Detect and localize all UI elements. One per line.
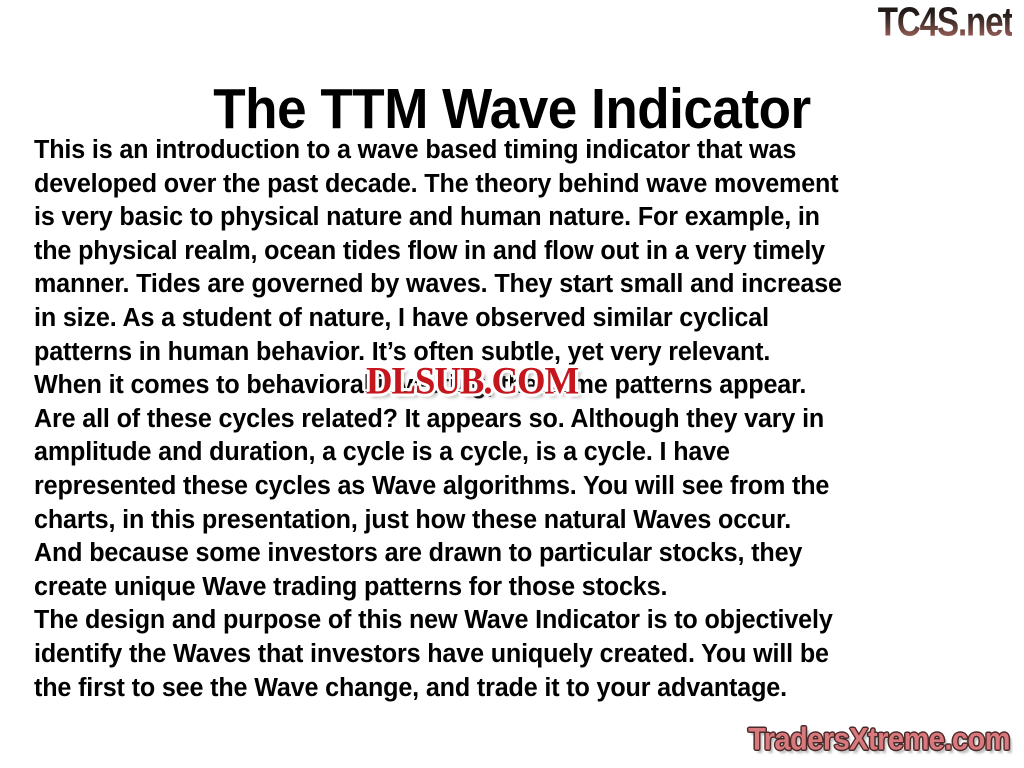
body-line: manner. Tides are governed by waves. The… (34, 268, 982, 302)
body-line: is very basic to physical nature and hum… (34, 201, 982, 235)
body-line: The design and purpose of this new Wave … (34, 604, 982, 638)
body-line: in size. As a student of nature, I have … (34, 302, 982, 336)
body-line: This is an introduction to a wave based … (34, 134, 982, 168)
body-line: identify the Waves that investors have u… (34, 638, 982, 672)
body-line: developed over the past decade. The theo… (34, 168, 982, 202)
body-line: amplitude and duration, a cycle is a cyc… (34, 436, 982, 470)
body-line: the physical realm, ocean tides flow in … (34, 235, 982, 269)
body-paragraph: The design and purpose of this new Wave … (34, 604, 982, 705)
brand-logo-tc4s: TC4S.net (877, 2, 1012, 42)
page-title: The TTM Wave Indicator (36, 80, 988, 138)
brand-logo-tradersxtreme: TradersXtreme.com (748, 724, 1010, 756)
body-line: And because some investors are drawn to … (34, 537, 982, 571)
body-text: This is an introduction to a wave based … (34, 134, 982, 705)
watermark-dlsub: DLSUB.COM (366, 361, 578, 400)
presentation-slide: TC4S.net The TTM Wave Indicator This is … (0, 0, 1024, 768)
body-line: charts, in this presentation, just how t… (34, 504, 982, 538)
body-line: create unique Wave trading patterns for … (34, 571, 982, 605)
body-line: represented these cycles as Wave algorit… (34, 470, 982, 504)
body-line: Are all of these cycles related? It appe… (34, 403, 982, 437)
body-line: the first to see the Wave change, and tr… (34, 672, 982, 706)
